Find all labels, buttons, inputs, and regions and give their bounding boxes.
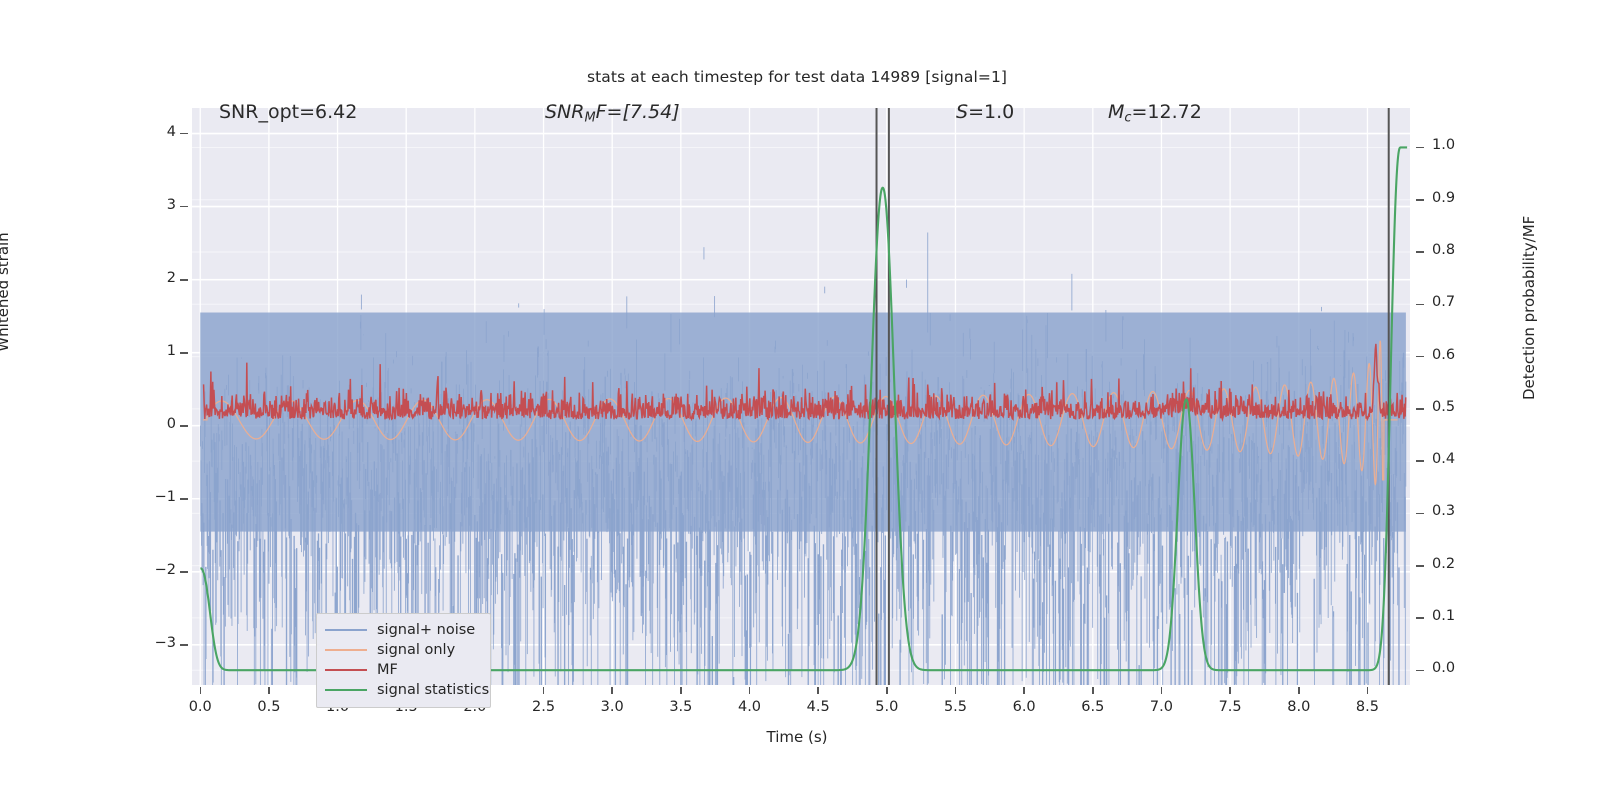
annotation-snr-mf-prefix: SNR <box>545 101 584 123</box>
y-tick-mark-right <box>1416 356 1424 358</box>
legend-item-label: signal statistics <box>377 682 489 698</box>
y-tick-mark-left <box>180 279 188 281</box>
y-tick-mark-right <box>1416 513 1424 515</box>
x-tick-mark <box>1367 687 1369 694</box>
annotation-mc-label: M <box>1108 101 1124 123</box>
y-tick-mark-right <box>1416 251 1424 253</box>
x-tick-mark <box>543 687 545 694</box>
y-tick-label-right: 1.0 <box>1432 137 1455 153</box>
y-tick-label-right: 0.9 <box>1432 190 1455 206</box>
annotation-snr-mf: SNRMF=[7.54] <box>545 101 680 126</box>
y-tick-label-left: −2 <box>114 562 176 578</box>
y-tick-mark-left <box>180 206 188 208</box>
legend-item[interactable]: MF <box>317 660 490 680</box>
x-tick-mark <box>268 687 270 694</box>
y-tick-label-left: 1 <box>114 343 176 359</box>
y-tick-label-left: 3 <box>114 197 176 213</box>
x-tick-mark <box>817 687 819 694</box>
legend-item-label: signal+ noise <box>377 622 475 638</box>
plot-axes <box>192 108 1410 685</box>
annotation-snr-opt: SNR_opt=6.42 <box>219 101 357 123</box>
y-tick-mark-right <box>1416 408 1424 410</box>
x-tick-mark <box>886 687 888 694</box>
legend-color-swatch <box>325 629 367 631</box>
y-tick-label-right: 0.7 <box>1432 294 1455 310</box>
y-tick-label-right: 0.3 <box>1432 503 1455 519</box>
y-tick-mark-left <box>180 133 188 135</box>
annotation-mc-number: =12.72 <box>1132 101 1202 123</box>
legend-item[interactable]: signal only <box>317 640 490 660</box>
x-tick-mark <box>1298 687 1300 694</box>
y-tick-label-left: −3 <box>114 635 176 651</box>
y-tick-mark-left <box>180 644 188 646</box>
y-tick-mark-right <box>1416 670 1424 672</box>
figure-title: stats at each timestep for test data 149… <box>0 68 1600 86</box>
legend-color-swatch <box>325 669 367 671</box>
figure-title-text: stats at each timestep for test data 149… <box>587 68 1007 86</box>
y-tick-label-left: −1 <box>114 489 176 505</box>
legend-item-label: MF <box>377 662 398 678</box>
y-tick-label-left: 0 <box>114 416 176 432</box>
y-tick-mark-right <box>1416 199 1424 201</box>
y-tick-label-right: 0.6 <box>1432 347 1455 363</box>
y-tick-label-right: 0.8 <box>1432 242 1455 258</box>
y-axis-label-right: Detection probability/MF <box>1520 216 1538 400</box>
x-tick-mark <box>1023 687 1025 694</box>
y-tick-label-right: 0.1 <box>1432 608 1455 624</box>
x-axis-label: Time (s) <box>0 728 1600 746</box>
legend-item-label: signal only <box>377 642 455 658</box>
y-tick-mark-left <box>180 498 188 500</box>
x-tick-mark <box>680 687 682 694</box>
legend-item[interactable]: signal statistics <box>317 680 490 700</box>
x-tick-mark <box>1229 687 1231 694</box>
legend-color-swatch <box>325 689 367 691</box>
x-tick-mark <box>200 687 202 694</box>
y-tick-label-right: 0.2 <box>1432 556 1455 572</box>
y-tick-label-right: 0.4 <box>1432 451 1455 467</box>
y-tick-mark-right <box>1416 304 1424 306</box>
annotation-chirp-mass: Mc=12.72 <box>1108 101 1202 126</box>
y-tick-mark-right <box>1416 617 1424 619</box>
y-tick-mark-right <box>1416 147 1424 149</box>
legend-item[interactable]: signal+ noise <box>317 620 490 640</box>
x-tick-mark <box>611 687 613 694</box>
legend-color-swatch <box>325 649 367 651</box>
legend[interactable]: signal+ noisesignal onlyMFsignal statist… <box>316 613 491 708</box>
plot-drawing-area <box>192 108 1410 685</box>
x-tick-label: 8.5 <box>1327 699 1407 715</box>
x-tick-mark <box>749 687 751 694</box>
y-tick-label-left: 4 <box>114 124 176 140</box>
x-tick-mark <box>1161 687 1163 694</box>
y-tick-mark-left <box>180 352 188 354</box>
annotation-s-value: S=1.0 <box>956 101 1014 123</box>
y-tick-mark-right <box>1416 565 1424 567</box>
y-tick-label-right: 0.0 <box>1432 660 1455 676</box>
y-tick-label-left: 2 <box>114 270 176 286</box>
x-axis-label-text: Time (s) <box>767 728 828 746</box>
y-axis-label-left: Whitened strain <box>0 232 12 351</box>
y-tick-mark-left <box>180 571 188 573</box>
y-tick-mark-left <box>180 425 188 427</box>
y-tick-label-right: 0.5 <box>1432 399 1455 415</box>
annotation-mc-subscript: c <box>1124 111 1131 126</box>
annotation-snr-mf-subscript: M <box>584 111 595 126</box>
annotation-snr-mf-suffix: F=[7.54] <box>596 101 680 123</box>
annotation-s-label: S <box>956 101 968 123</box>
y-tick-mark-right <box>1416 460 1424 462</box>
annotation-s-number: =1.0 <box>968 101 1014 123</box>
x-tick-mark <box>1092 687 1094 694</box>
x-tick-mark <box>955 687 957 694</box>
figure-canvas: stats at each timestep for test data 149… <box>0 0 1600 800</box>
